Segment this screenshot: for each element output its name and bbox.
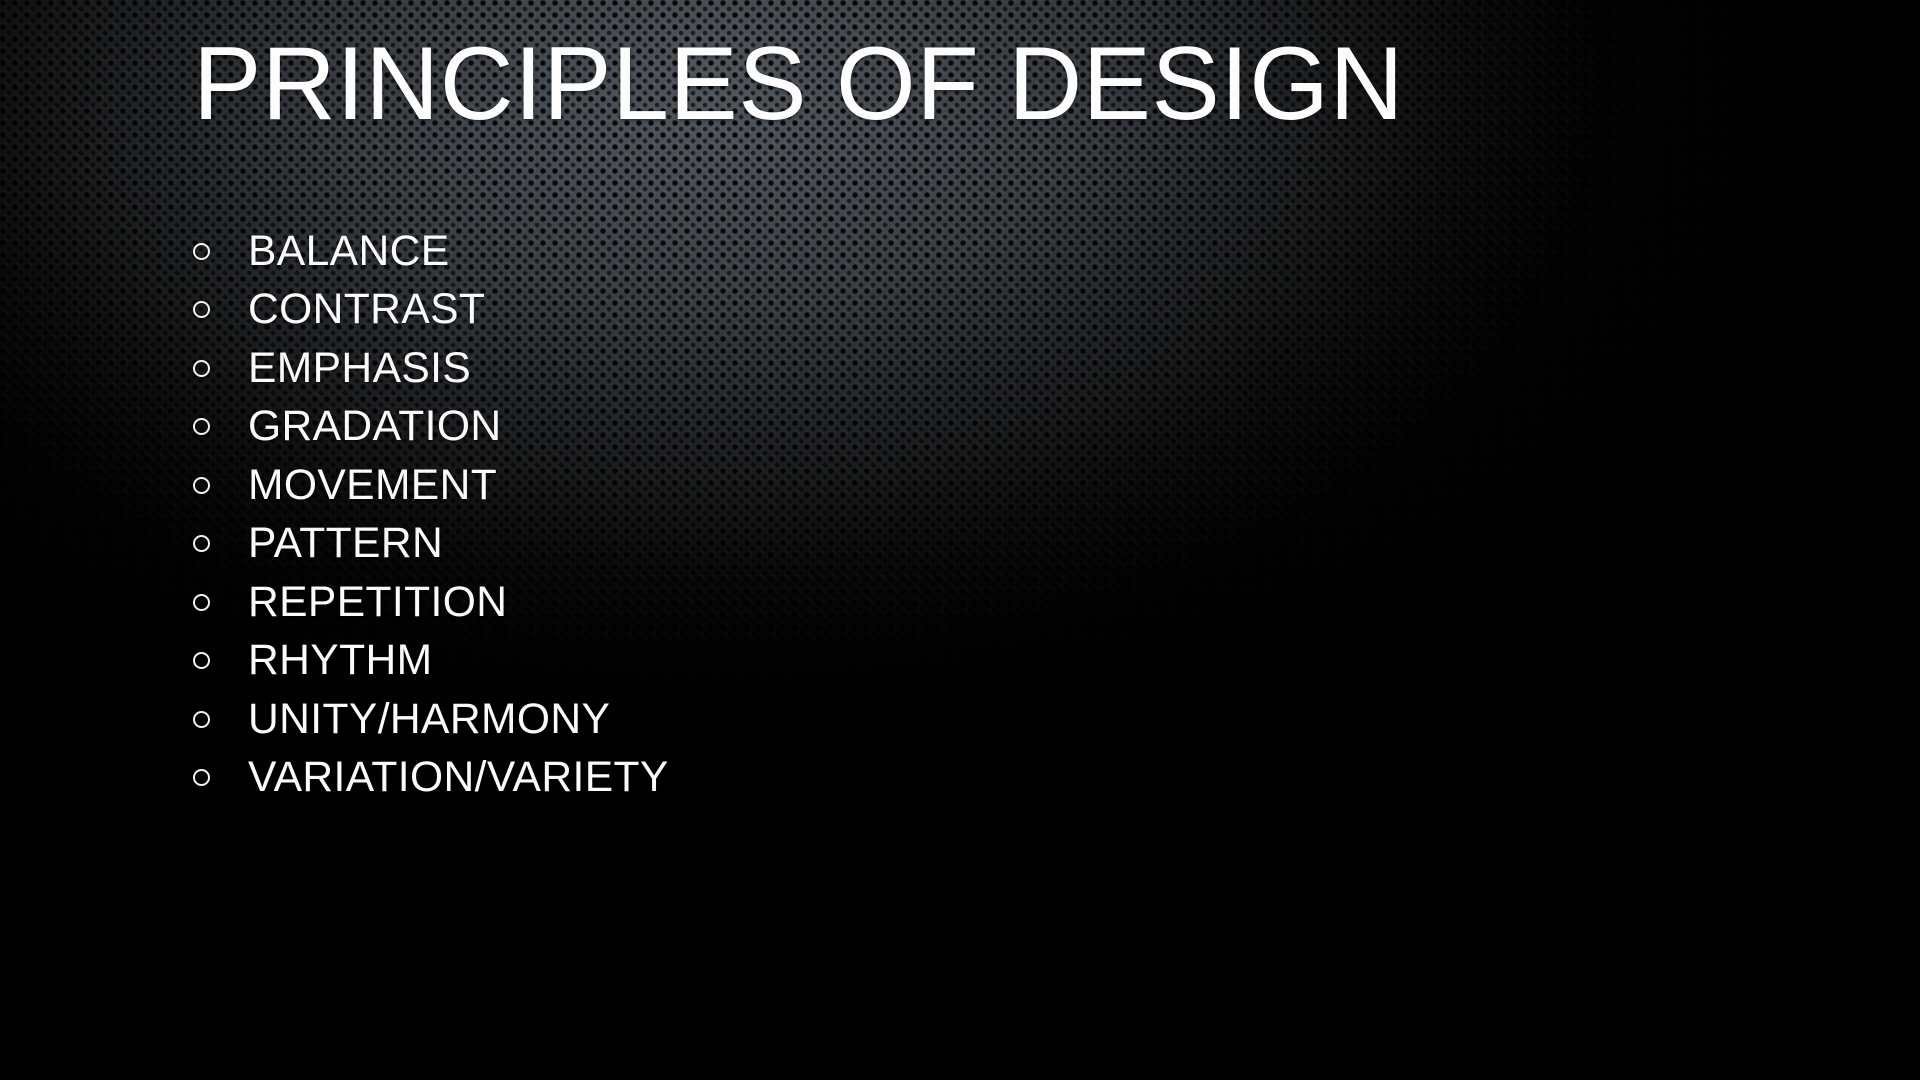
list-item-label: UNITY/HARMONY (248, 698, 610, 741)
hollow-circle-bullet-icon (193, 243, 210, 260)
presentation-slide: PRINCIPLES OF DESIGN BALANCECONTRASTEMPH… (0, 0, 1920, 1080)
slide-title: PRINCIPLES OF DESIGN (193, 28, 1404, 140)
list-item-label: REPETITION (248, 581, 507, 624)
list-item-label: CONTRAST (248, 288, 485, 331)
list-item-label: RHYTHM (248, 639, 432, 682)
list-item[interactable]: EMPHASIS (193, 339, 673, 398)
list-item[interactable]: PATTERN (193, 515, 673, 574)
list-item-label: MOVEMENT (248, 464, 497, 507)
list-item[interactable]: CONTRAST (193, 281, 673, 340)
hollow-circle-bullet-icon (193, 652, 210, 669)
hollow-circle-bullet-icon (193, 477, 210, 494)
hollow-circle-bullet-icon (193, 418, 210, 435)
hollow-circle-bullet-icon (193, 711, 210, 728)
list-item-label: EMPHASIS (248, 347, 471, 390)
list-item[interactable]: BALANCE (193, 222, 673, 281)
list-item-label: VARIATION/VARIETY (248, 756, 669, 799)
hollow-circle-bullet-icon (193, 360, 210, 377)
list-item[interactable]: RHYTHM (193, 632, 673, 691)
list-item-label: GRADATION (248, 405, 501, 448)
hollow-circle-bullet-icon (193, 594, 210, 611)
principles-bullet-list: BALANCECONTRASTEMPHASISGRADATIONMOVEMENT… (193, 222, 673, 807)
list-item-label: BALANCE (248, 230, 450, 273)
slide-content: PRINCIPLES OF DESIGN BALANCECONTRASTEMPH… (0, 0, 1920, 1080)
hollow-circle-bullet-icon (193, 301, 210, 318)
list-item[interactable]: GRADATION (193, 398, 673, 457)
list-item[interactable]: VARIATION/VARIETY (193, 749, 673, 808)
list-item[interactable]: UNITY/HARMONY (193, 690, 673, 749)
hollow-circle-bullet-icon (193, 535, 210, 552)
list-item[interactable]: REPETITION (193, 573, 673, 632)
list-item[interactable]: MOVEMENT (193, 456, 673, 515)
list-item-label: PATTERN (248, 522, 443, 565)
hollow-circle-bullet-icon (193, 769, 210, 786)
